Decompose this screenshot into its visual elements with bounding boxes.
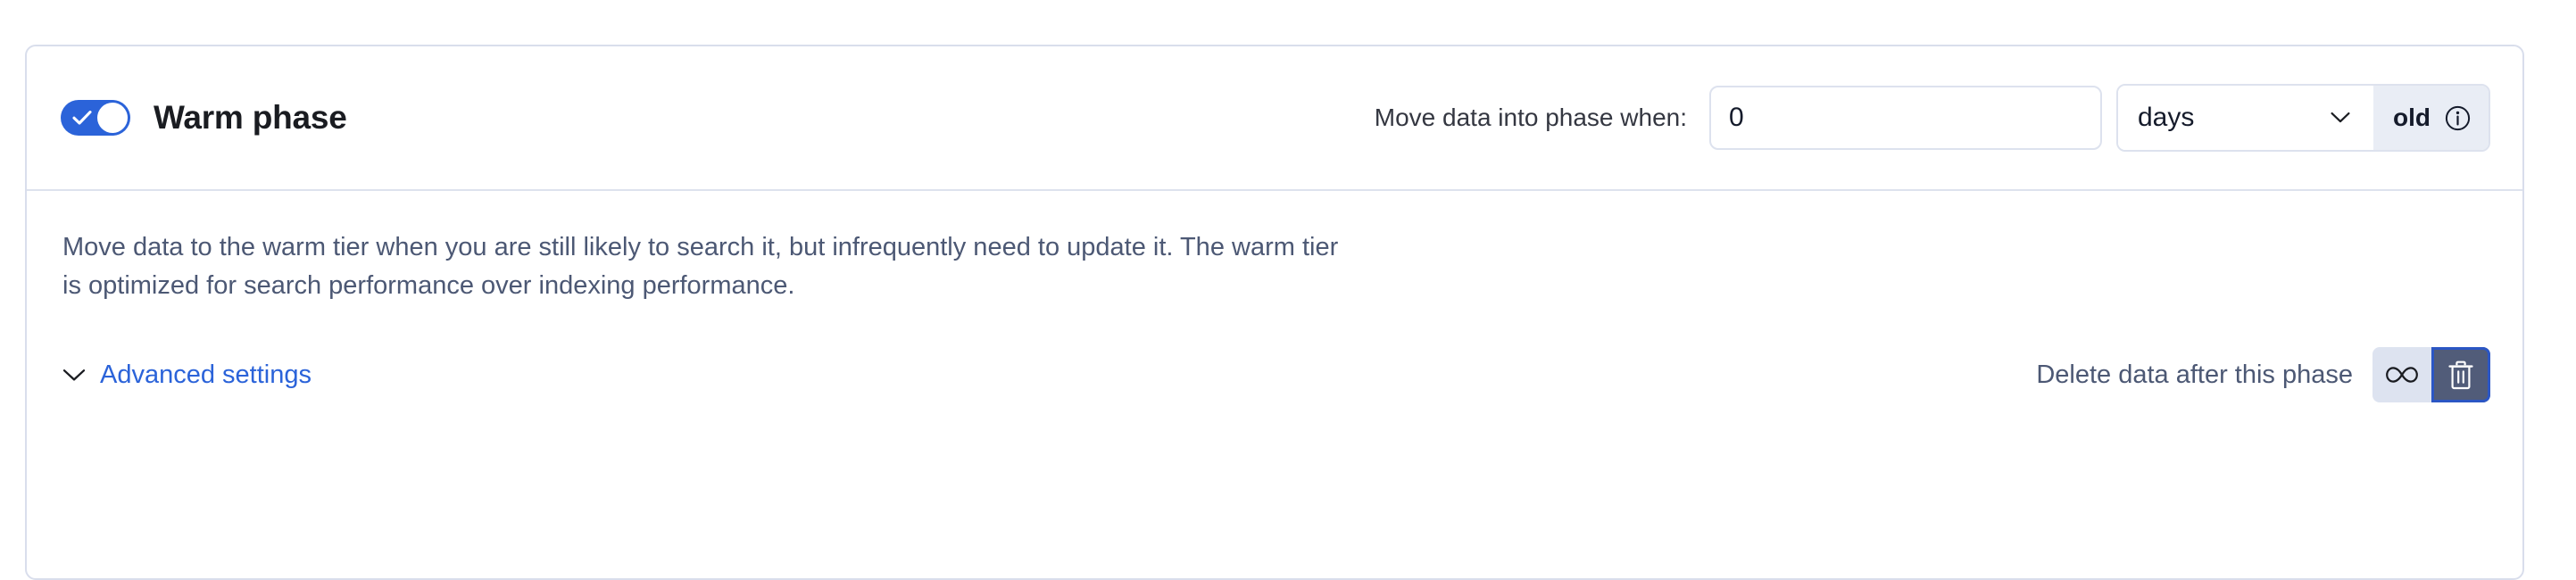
header-right-group: Move data into phase when: days old [1375,84,2490,152]
min-age-input[interactable] [1709,86,2102,150]
delete-control-group: Delete data after this phase [2036,347,2490,402]
card-body: Move data to the warm tier when you are … [27,191,2522,402]
warm-phase-toggle[interactable] [61,100,130,136]
keep-forever-button[interactable] [2372,347,2431,402]
chevron-down-icon [62,369,86,382]
page-root: Warm phase Move data into phase when: da… [0,0,2576,530]
check-icon [72,110,92,126]
info-circle-icon[interactable] [2445,105,2471,131]
chevron-down-icon [2331,112,2350,124]
old-suffix-label: old [2393,104,2431,132]
header-left-group: Warm phase [61,99,347,137]
unit-select-group: days old [2116,84,2490,152]
phase-description: Move data to the warm tier when you are … [62,228,1357,304]
time-unit-value: days [2138,103,2194,133]
advanced-settings-toggle[interactable]: Advanced settings [62,360,312,390]
infinity-icon [2384,364,2420,385]
time-unit-select[interactable]: days [2118,86,2373,150]
trash-icon [2447,360,2474,390]
page-title: Warm phase [154,99,347,137]
advanced-settings-label: Advanced settings [100,360,312,390]
toggle-knob [97,103,128,133]
move-data-label: Move data into phase when: [1375,104,1687,132]
delete-toggle-button-group [2372,347,2490,402]
unit-append: old [2373,86,2489,150]
card-footer-row: Advanced settings Delete data after this… [62,347,2490,402]
delete-data-button[interactable] [2431,347,2490,402]
card-header: Warm phase Move data into phase when: da… [27,46,2522,191]
warm-phase-card: Warm phase Move data into phase when: da… [25,45,2524,580]
delete-data-label: Delete data after this phase [2036,360,2353,390]
